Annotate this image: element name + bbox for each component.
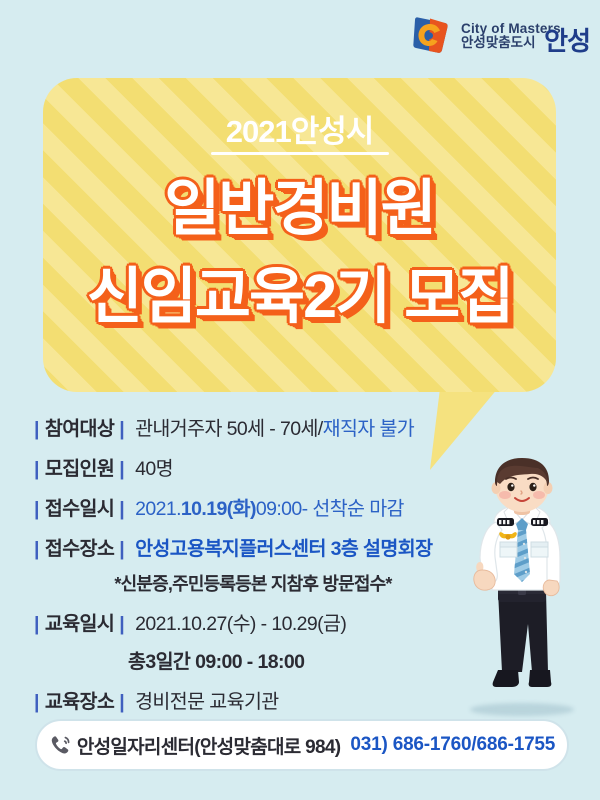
label-bar-right: | — [119, 458, 124, 481]
label-bar-left: | — [34, 418, 39, 441]
poster-canvas: City of Masters 안성맞춤도시 안성 2021안성시 일반경비원 … — [0, 0, 600, 800]
logo-city-name: 안성 — [544, 21, 590, 58]
poster-eyebrow-text: 2021안성시 — [43, 106, 556, 151]
info-row-training-place: |교육장소| 경비전문 교육기관 — [34, 685, 464, 714]
info-value-time: 09:00- 선착순 마감 — [256, 492, 404, 521]
character-ground-shadow — [470, 703, 574, 716]
contact-center-name: 안성일자리센터(안성맞춤대로 984) — [77, 732, 341, 759]
info-label-wrap: |교육장소| — [34, 685, 129, 714]
info-value-blue: 재직자 불가 — [323, 412, 415, 441]
info-label: 교육일시 — [45, 607, 114, 636]
info-value-year: 2021. — [135, 498, 181, 521]
label-bar-left: | — [34, 538, 39, 561]
info-value-dark: 경비전문 교육기관 — [135, 685, 279, 714]
poster-title-line2: 신임교육2기 모집 — [43, 266, 556, 327]
eyebrow-underline — [211, 152, 389, 155]
application-note: *신분증,주민등록등본 지참후 방문접수* — [42, 570, 464, 596]
info-label: 교육장소 — [45, 685, 114, 714]
info-row-participants: |참여대상| 관내거주자 50세 - 70세/재직자 불가 — [34, 412, 464, 441]
label-bar-left: | — [34, 613, 39, 636]
phone-icon — [49, 734, 71, 756]
label-bar-left: | — [34, 498, 39, 521]
contact-phone-number[interactable]: 031) 686-1760/686-1755 — [350, 734, 555, 756]
info-label-wrap: |접수일시| — [34, 492, 129, 521]
contact-bar[interactable]: 안성일자리센터(안성맞춤대로 984) 031) 686-1760/686-17… — [35, 719, 569, 771]
label-bar-right: | — [119, 418, 124, 441]
label-bar-right: | — [119, 498, 124, 521]
speech-bubble: 2021안성시 일반경비원 신임교육2기 모집 — [43, 78, 556, 392]
label-bar-right: | — [119, 691, 124, 714]
city-logo: City of Masters 안성맞춤도시 안성 — [408, 12, 590, 60]
label-bar-left: | — [34, 691, 39, 714]
info-label: 접수일시 — [45, 492, 114, 521]
info-value-dark: 2021.10.27(수) - 10.29(금) — [135, 607, 346, 636]
info-label-wrap: |참여대상| — [34, 412, 129, 441]
info-value-place: 안성고용복지플러스센터 3층 설명회장 — [135, 532, 432, 561]
label-bar-right: | — [119, 613, 124, 636]
label-bar-right: | — [119, 538, 124, 561]
anseong-swirl-logo-icon — [408, 14, 452, 58]
info-value-dark: 관내거주자 50세 - 70세/ — [135, 412, 323, 441]
info-value-dark: 40명 — [135, 452, 173, 481]
info-label: 모집인원 — [45, 452, 114, 481]
info-label-wrap: |접수장소| — [34, 532, 129, 561]
poster-title-line1: 일반경비원 — [43, 178, 556, 239]
info-label: 참여대상 — [45, 412, 114, 441]
info-label-wrap: |교육일시| — [34, 607, 129, 636]
info-label-wrap: |모집인원| — [34, 452, 129, 481]
info-value-date: 10.19(화) — [181, 492, 256, 521]
info-list: |참여대상| 관내거주자 50세 - 70세/재직자 불가 |모집인원| 40명… — [34, 412, 464, 725]
training-duration-subline: 총3일간 09:00 - 18:00 — [128, 645, 464, 674]
security-guard-illustration — [452, 458, 590, 718]
info-row-application-place: |접수장소| 안성고용복지플러스센터 3층 설명회장 — [34, 532, 464, 561]
info-row-headcount: |모집인원| 40명 — [34, 452, 464, 481]
info-label: 접수장소 — [45, 532, 114, 561]
label-bar-left: | — [34, 458, 39, 481]
info-row-training-date: |교육일시| 2021.10.27(수) - 10.29(금) — [34, 607, 464, 636]
info-row-application-date: |접수일시| 2021.10.19(화) 09:00- 선착순 마감 — [34, 492, 464, 521]
